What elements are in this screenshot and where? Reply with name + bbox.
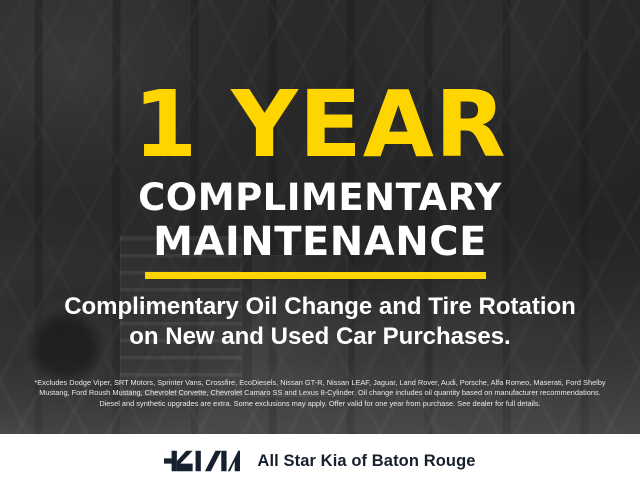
headline-complimentary: COMPLIMENTARY [0,179,640,216]
disclaimer-line-2: Mustang, Ford Roush Mustang, Chevrolet C… [14,388,626,398]
hero-section: 1 YEAR COMPLIMENTARY MAINTENANCE Complim… [0,0,640,434]
disclaimer-line-3: Diesel and synthetic upgrades are extra.… [14,399,626,409]
offer-description: Complimentary Oil Change and Tire Rotati… [0,292,640,352]
yellow-divider-rule [145,272,486,279]
disclaimer-line-1: *Excludes Dodge Viper, SRT Motors, Sprin… [14,378,626,388]
dealer-name: All Star Kia of Baton Rouge [257,452,475,471]
disclaimer-text: *Excludes Dodge Viper, SRT Motors, Sprin… [14,378,626,409]
hero-content: 1 YEAR COMPLIMENTARY MAINTENANCE Complim… [0,0,640,434]
kia-logo[interactable] [164,450,240,472]
offer-line-2: on New and Used Car Purchases. [0,322,640,352]
footer-bar: All Star Kia of Baton Rouge [0,434,640,488]
offer-line-1: Complimentary Oil Change and Tire Rotati… [0,292,640,322]
promo-ad-banner[interactable]: 1 YEAR COMPLIMENTARY MAINTENANCE Complim… [0,0,640,488]
headline-maintenance: MAINTENANCE [0,222,640,262]
headline-year: 1 YEAR [0,79,640,171]
